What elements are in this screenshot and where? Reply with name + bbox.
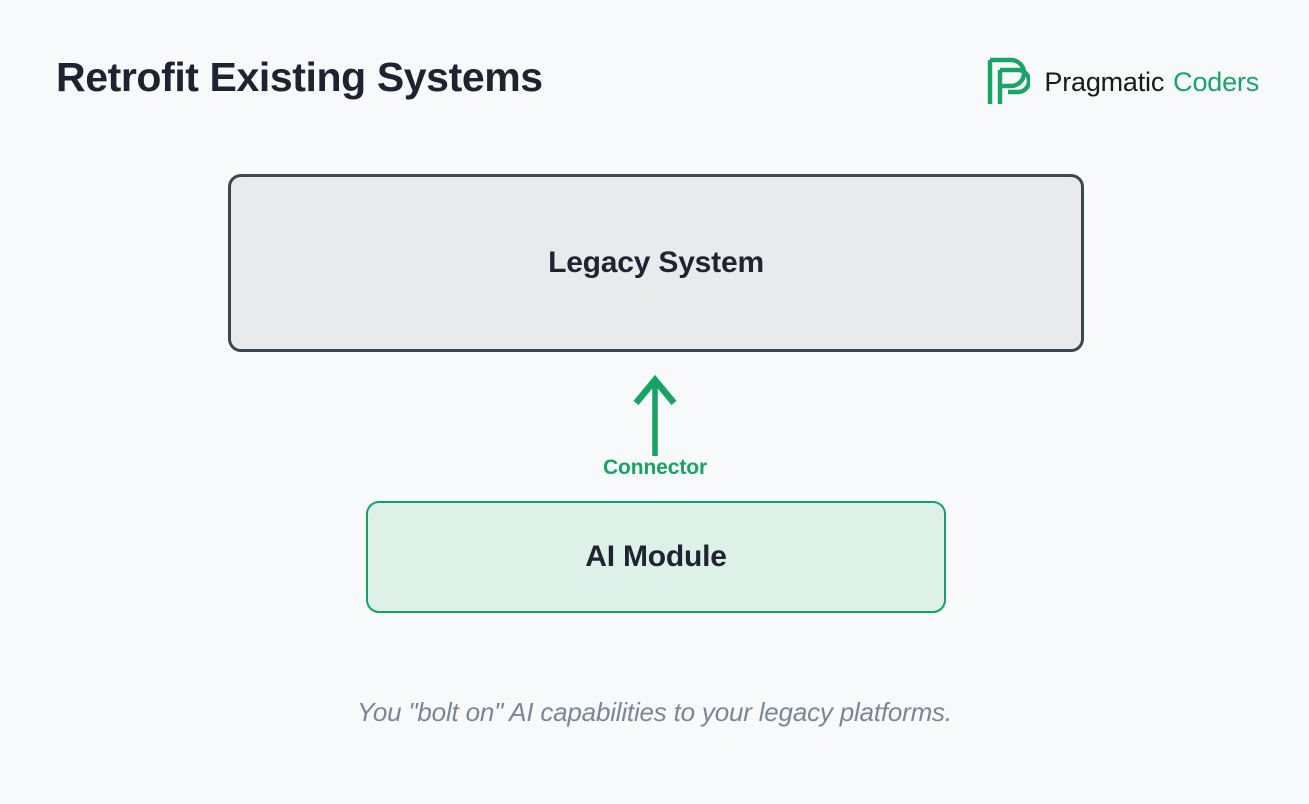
legacy-system-label: Legacy System — [548, 246, 764, 280]
slide-canvas: Retrofit Existing Systems Pragmatic Code… — [0, 0, 1309, 804]
brand-logo: Pragmatic Coders — [986, 54, 1259, 110]
ai-module-label: AI Module — [585, 540, 727, 574]
page-title: Retrofit Existing Systems — [56, 54, 543, 101]
pragmatic-coders-p-monogram-icon — [986, 56, 1030, 108]
connector-label: Connector — [560, 456, 750, 480]
brand-word-accent: Coders — [1173, 67, 1259, 98]
diagram-node-ai-module: AI Module — [366, 501, 946, 613]
brand-word-primary: Pragmatic — [1044, 67, 1164, 98]
caption-text: You "bolt on" AI capabilities to your le… — [0, 697, 1309, 728]
arrow-up-icon — [560, 372, 750, 458]
diagram-node-legacy-system: Legacy System — [228, 174, 1084, 352]
connector-group: Connector — [560, 372, 750, 492]
brand-wordmark: Pragmatic Coders — [1044, 67, 1259, 98]
